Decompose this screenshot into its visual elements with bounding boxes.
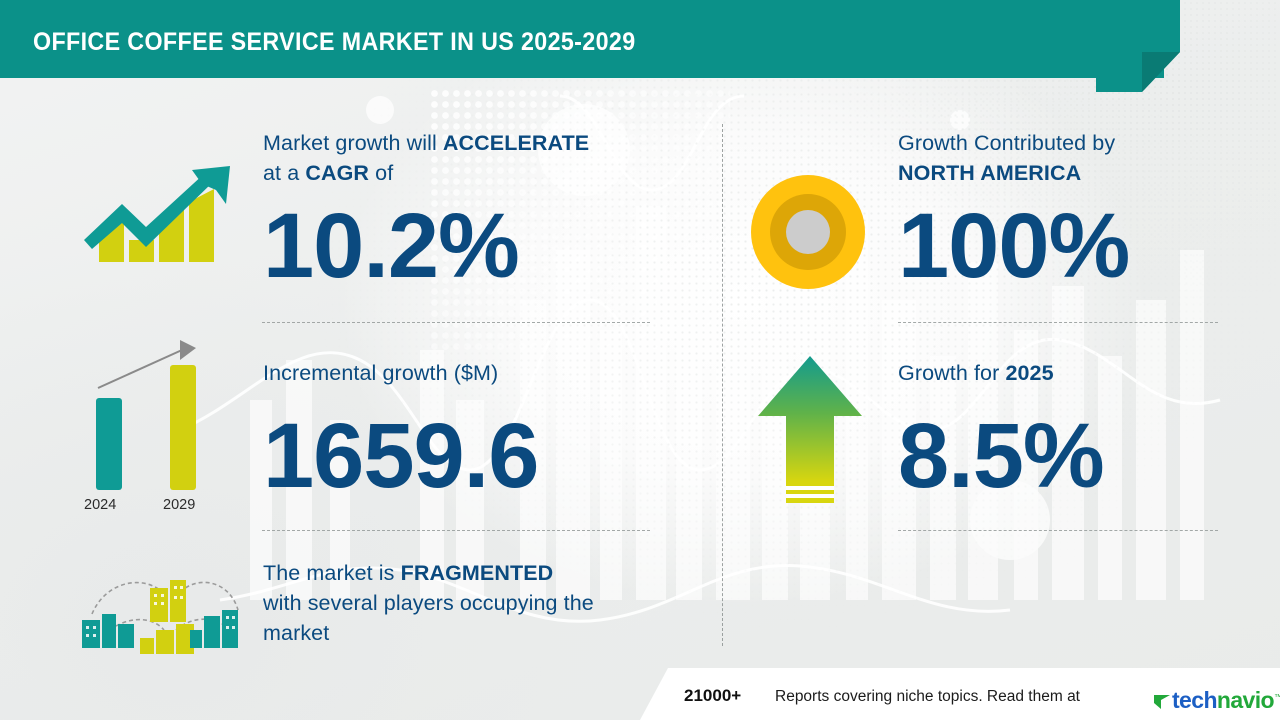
left-divider-2 [262, 530, 650, 531]
cagr-caption-line2-bold: CAGR [305, 161, 369, 185]
fragmented-line1-bold: FRAGMENTED [401, 561, 554, 585]
logo-text-tech: tech [1172, 687, 1217, 713]
growth-2025-plain: Growth for [898, 361, 1005, 385]
footer-tagline: Reports covering niche topics. Read them… [775, 688, 1080, 706]
cagr-caption-line2-tail: of [369, 161, 393, 185]
left-divider-1 [262, 322, 650, 323]
growth-bar-arrow-icon [66, 152, 242, 302]
banner-fold-corner [1096, 0, 1180, 92]
right-divider-1 [898, 322, 1218, 323]
growth-2025-caption: Growth for 2025 [898, 358, 1054, 388]
city-buildings-network-icon [72, 558, 248, 654]
infographic-canvas: OFFICE COFFEE SERVICE MARKET IN US 2025-… [0, 0, 1280, 720]
contribution-line1: Growth Contributed by [898, 128, 1228, 158]
cagr-value: 10.2% [263, 200, 519, 292]
technavio-logo[interactable]: technavio™ [1152, 687, 1280, 714]
donut-ring-icon [748, 175, 868, 290]
column-divider [722, 124, 723, 646]
growth-2025-value: 8.5% [898, 410, 1104, 502]
technavio-arrow-icon [1152, 691, 1172, 711]
cagr-caption-line2-plain: at a [263, 161, 305, 185]
fragmented-line3: market [263, 618, 683, 648]
logo-trademark: ™ [1274, 692, 1280, 701]
footer-bar [0, 668, 1280, 720]
bar-label-2024: 2024 [84, 497, 116, 513]
contribution-caption: Growth Contributed by NORTH AMERICA [898, 128, 1228, 188]
fragmented-caption: The market is FRAGMENTED with several pl… [263, 558, 683, 648]
two-bar-comparison-icon [70, 332, 240, 522]
cagr-caption-line1-bold: ACCELERATE [443, 131, 589, 155]
incremental-growth-label: Incremental growth ($M) [263, 358, 498, 388]
up-arrow-gradient-icon [750, 350, 870, 510]
growth-2025-bold: 2025 [1005, 361, 1053, 385]
cagr-caption: Market growth will ACCELERATE at a CAGR … [263, 128, 663, 188]
fragmented-line1-plain: The market is [263, 561, 401, 585]
cagr-caption-line1-plain: Market growth will [263, 131, 443, 155]
reports-count: 21000+ [684, 686, 741, 706]
contribution-value: 100% [898, 200, 1129, 292]
fragmented-line2: with several players occupying the [263, 588, 683, 618]
incremental-growth-value: 1659.6 [263, 410, 538, 502]
logo-text-navio: navio [1217, 687, 1274, 713]
page-title: OFFICE COFFEE SERVICE MARKET IN US 2025-… [33, 28, 636, 57]
bar-label-2029: 2029 [163, 497, 195, 513]
right-divider-2 [898, 530, 1218, 531]
contribution-line2-bold: NORTH AMERICA [898, 161, 1081, 185]
